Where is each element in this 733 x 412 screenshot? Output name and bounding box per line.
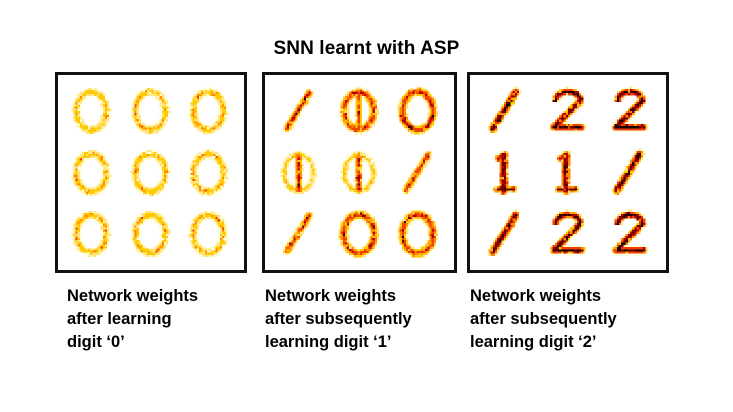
weight-map-2-2-1: [537, 203, 599, 265]
weight-map-1-0-1: [330, 80, 390, 142]
weight-map-2-2-2: [599, 203, 661, 265]
weight-map-0-2-0: [63, 203, 122, 265]
weight-map-2-1-0: [475, 142, 537, 204]
weight-map-2-1-1: [537, 142, 599, 204]
weight-map-0-0-1: [122, 80, 181, 142]
weight-map-1-2-2: [389, 203, 449, 265]
weight-map-2-0-0: [475, 80, 537, 142]
panel-caption-2: Network weights after subsequently learn…: [470, 285, 680, 353]
weight-map-1-1-0: [270, 142, 330, 204]
weight-map-0-2-2: [180, 203, 239, 265]
weight-map-2-1-2: [599, 142, 661, 204]
panel-caption-1: Network weights after subsequently learn…: [265, 285, 470, 353]
panel-caption-0: Network weights after learning digit ‘0’: [67, 285, 267, 353]
weight-map-2-0-2: [599, 80, 661, 142]
figure-title: SNN learnt with ASP: [0, 38, 733, 60]
weight-map-2-2-0: [475, 203, 537, 265]
weight-panel-1: [262, 72, 457, 273]
weight-map-1-1-2: [389, 142, 449, 204]
weight-map-1-2-1: [330, 203, 390, 265]
weight-map-1-2-0: [270, 203, 330, 265]
weight-map-0-1-0: [63, 142, 122, 204]
weight-map-1-1-1: [330, 142, 390, 204]
figure-root: SNN learnt with ASP Network weights afte…: [0, 0, 733, 412]
weight-map-0-1-1: [122, 142, 181, 204]
weight-map-0-0-2: [180, 80, 239, 142]
weight-map-1-0-0: [270, 80, 330, 142]
weight-map-0-2-1: [122, 203, 181, 265]
weight-panel-2: [467, 72, 669, 273]
weight-map-0-0-0: [63, 80, 122, 142]
weight-map-1-0-2: [389, 80, 449, 142]
weight-map-2-0-1: [537, 80, 599, 142]
weight-map-0-1-2: [180, 142, 239, 204]
weight-panel-0: [55, 72, 247, 273]
